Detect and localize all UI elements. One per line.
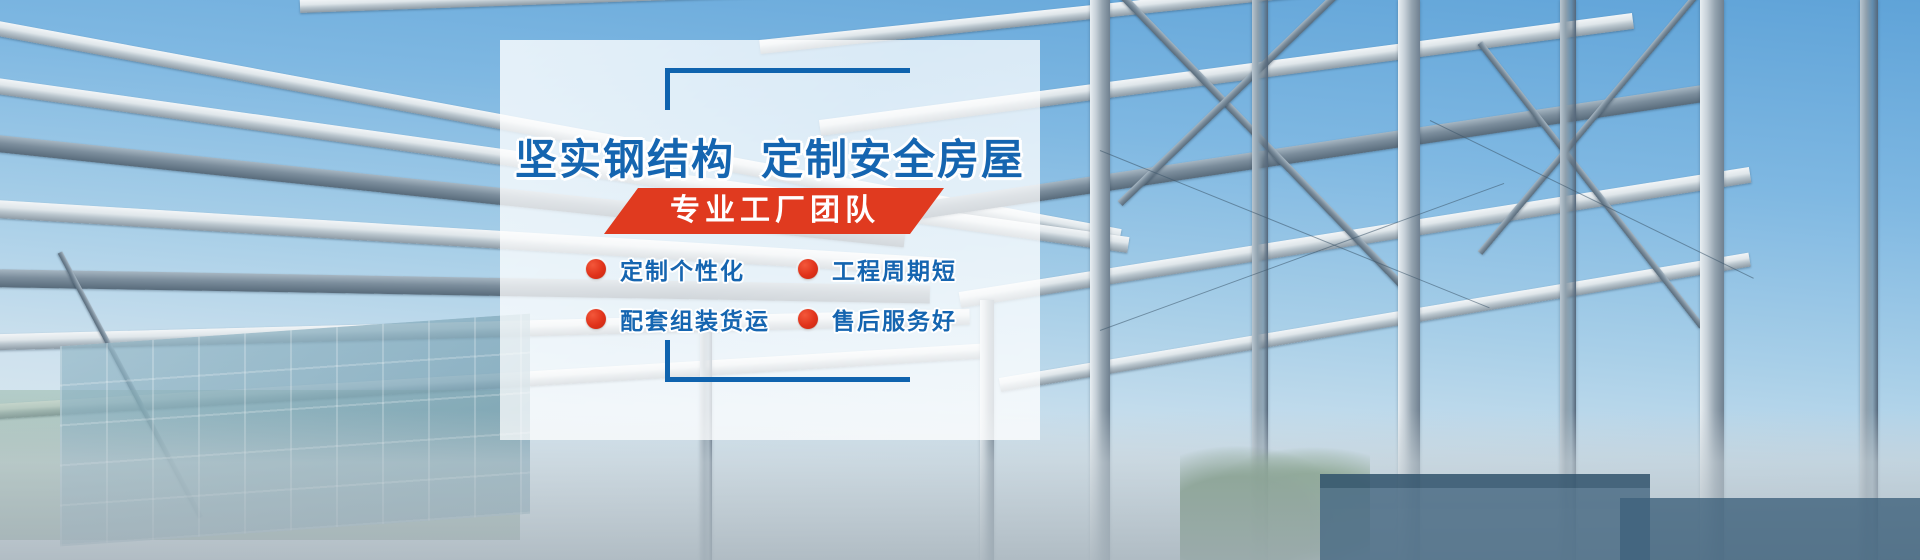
bracket-horizontal-line [665,68,910,73]
bracket-horizontal-line [665,377,910,382]
headline-part-2: 定制安全房屋 [761,135,1025,184]
headline-part-1: 坚实钢结构 [515,135,735,184]
bullet-dot-icon [586,309,606,329]
corner-bracket-bottom [665,340,910,382]
bracket-vertical-line [665,68,670,110]
hero-banner: 坚实钢结构定制安全房屋 专业工厂团队 定制个性化 工程周期短 配套组装货运 [0,0,1920,560]
feature-label: 定制个性化 [620,252,745,286]
page-title: 坚实钢结构定制安全房屋 [500,126,1040,187]
feature-label: 售后服务好 [832,302,957,336]
feature-list: 定制个性化 工程周期短 配套组装货运 售后服务好 [586,252,1006,352]
list-item: 配套组装货运 [586,302,798,336]
distant-building [1620,498,1920,560]
list-item: 工程周期短 [798,252,957,286]
bullet-dot-icon [586,259,606,279]
feature-row: 定制个性化 工程周期短 [586,252,1006,286]
list-item: 定制个性化 [586,252,798,286]
feature-row: 配套组装货运 售后服务好 [586,302,1006,336]
bullet-dot-icon [798,309,818,329]
banner-content: 坚实钢结构定制安全房屋 专业工厂团队 定制个性化 工程周期短 配套组装货运 [500,40,1040,440]
feature-label: 配套组装货运 [620,302,770,336]
feature-label: 工程周期短 [832,252,957,286]
ribbon-badge: 专业工厂团队 [604,188,944,234]
bullet-dot-icon [798,259,818,279]
ribbon-label: 专业工厂团队 [668,196,880,226]
list-item: 售后服务好 [798,302,957,336]
corner-bracket-top [665,68,910,110]
distant-building [1320,474,1650,560]
bracket-vertical-line [665,340,670,382]
